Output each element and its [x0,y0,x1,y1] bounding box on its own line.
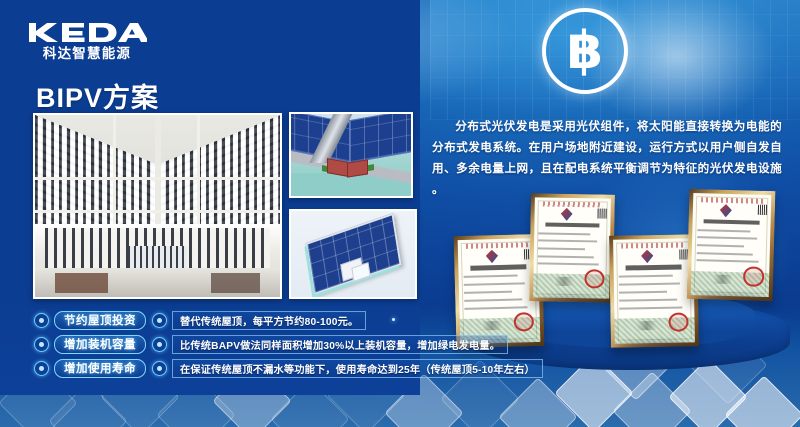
feature-list: 节约屋顶投资 替代传统屋顶，每平方节约80-100元。 增加装机容量 比传统BA… [34,309,764,381]
feature-note-1: 替代传统屋顶，每平方节约80-100元。 [172,311,366,330]
bipv-poster: ฿ 科达智慧能源 BIPV方案 [0,0,800,427]
description-text: 分布式光伏发电是采用光伏组件，将太阳能直接转换为电能的分布式发电系统。在用户场地… [432,116,782,200]
feature-row-2: 增加装机容量 比传统BAPV做法同样面积增加30%以上装机容量，增加绿电发电量。 [34,333,764,355]
feature-label-2: 增加装机容量 [54,335,146,354]
brand-logo-subtitle: 科达智慧能源 [27,46,147,61]
feature-label-1: 节约屋顶投资 [54,311,146,330]
feature-row-1: 节约屋顶投资 替代传统屋顶，每平方节约80-100元。 [34,309,764,331]
description-block: 分布式光伏发电是采用光伏组件，将太阳能直接转换为电能的分布式发电系统。在用户场地… [432,116,782,200]
page-title: BIPV方案 [36,76,159,115]
bullet-marker-icon [152,313,167,328]
patent-certificate-2 [529,193,615,302]
patent-certificate-4 [687,189,776,301]
bullet-marker-icon [34,361,49,376]
mounting-detail-render [289,112,413,198]
keda-logo-icon [27,20,147,45]
bitcoin-icon: ฿ [542,8,628,94]
bullet-marker-icon [152,337,167,352]
brand-logo: 科达智慧能源 [27,20,147,62]
bullet-marker-icon [34,313,49,328]
bullet-marker-icon [34,337,49,352]
pv-module-render [289,209,417,299]
feature-note-3: 在保证传统屋顶不漏水等功能下，使用寿命达到25年（传统屋顶5-10年左右） [172,359,543,378]
feature-row-3: 增加使用寿命 在保证传统屋顶不漏水等功能下，使用寿命达到25年（传统屋顶5-10… [34,357,764,379]
feature-label-3: 增加使用寿命 [54,359,146,378]
spark-dot-icon [392,318,395,321]
bullet-marker-icon [152,361,167,376]
bipv-atrium-photo [33,113,282,299]
bitcoin-glyph: ฿ [567,25,603,77]
feature-note-2: 比传统BAPV做法同样面积增加30%以上装机容量，增加绿电发电量。 [172,335,508,354]
